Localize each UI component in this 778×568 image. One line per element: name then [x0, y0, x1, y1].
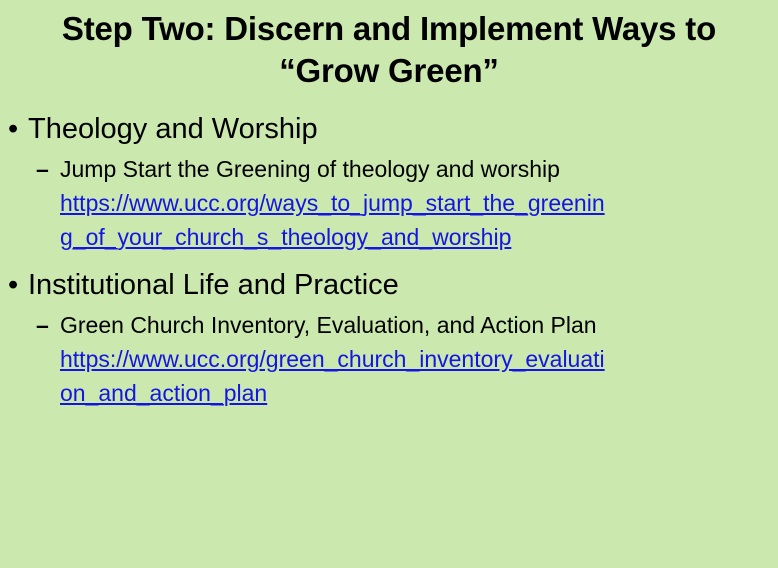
- sub-bullet-item-jump-start: – Jump Start the Greening of theology an…: [0, 153, 778, 186]
- bullet-item-theology-and-worship: • Theology and Worship: [0, 110, 778, 148]
- bullet-dash-icon: –: [36, 309, 49, 342]
- sub-bullet-label: Green Church Inventory, Evaluation, and …: [60, 312, 597, 338]
- slide-title: Step Two: Discern and Implement Ways to …: [24, 8, 754, 92]
- hyperlink-inventory-line-2[interactable]: on_and_action_plan: [0, 376, 778, 410]
- hyperlink-theology-line-2[interactable]: g_of_your_church_s_theology_and_worship: [0, 220, 778, 254]
- sub-bullet-label: Jump Start the Greening of theology and …: [60, 156, 560, 182]
- bullet-label: Theology and Worship: [28, 113, 318, 145]
- bullet-item-institutional-life-and-practice: • Institutional Life and Practice: [0, 266, 778, 304]
- slide-body: • Theology and Worship – Jump Start the …: [0, 110, 778, 410]
- bullet-label: Institutional Life and Practice: [28, 269, 399, 301]
- spacer: [0, 254, 778, 266]
- presentation-slide: Step Two: Discern and Implement Ways to …: [0, 0, 778, 568]
- hyperlink-theology-line-1[interactable]: https://www.ucc.org/ways_to_jump_start_t…: [0, 186, 778, 220]
- bullet-dot-icon: •: [8, 110, 18, 148]
- hyperlink-inventory-line-1[interactable]: https://www.ucc.org/green_church_invento…: [0, 342, 778, 376]
- bullet-dash-icon: –: [36, 153, 49, 186]
- sub-bullet-item-green-church-inventory: – Green Church Inventory, Evaluation, an…: [0, 309, 778, 342]
- bullet-dot-icon: •: [8, 266, 18, 304]
